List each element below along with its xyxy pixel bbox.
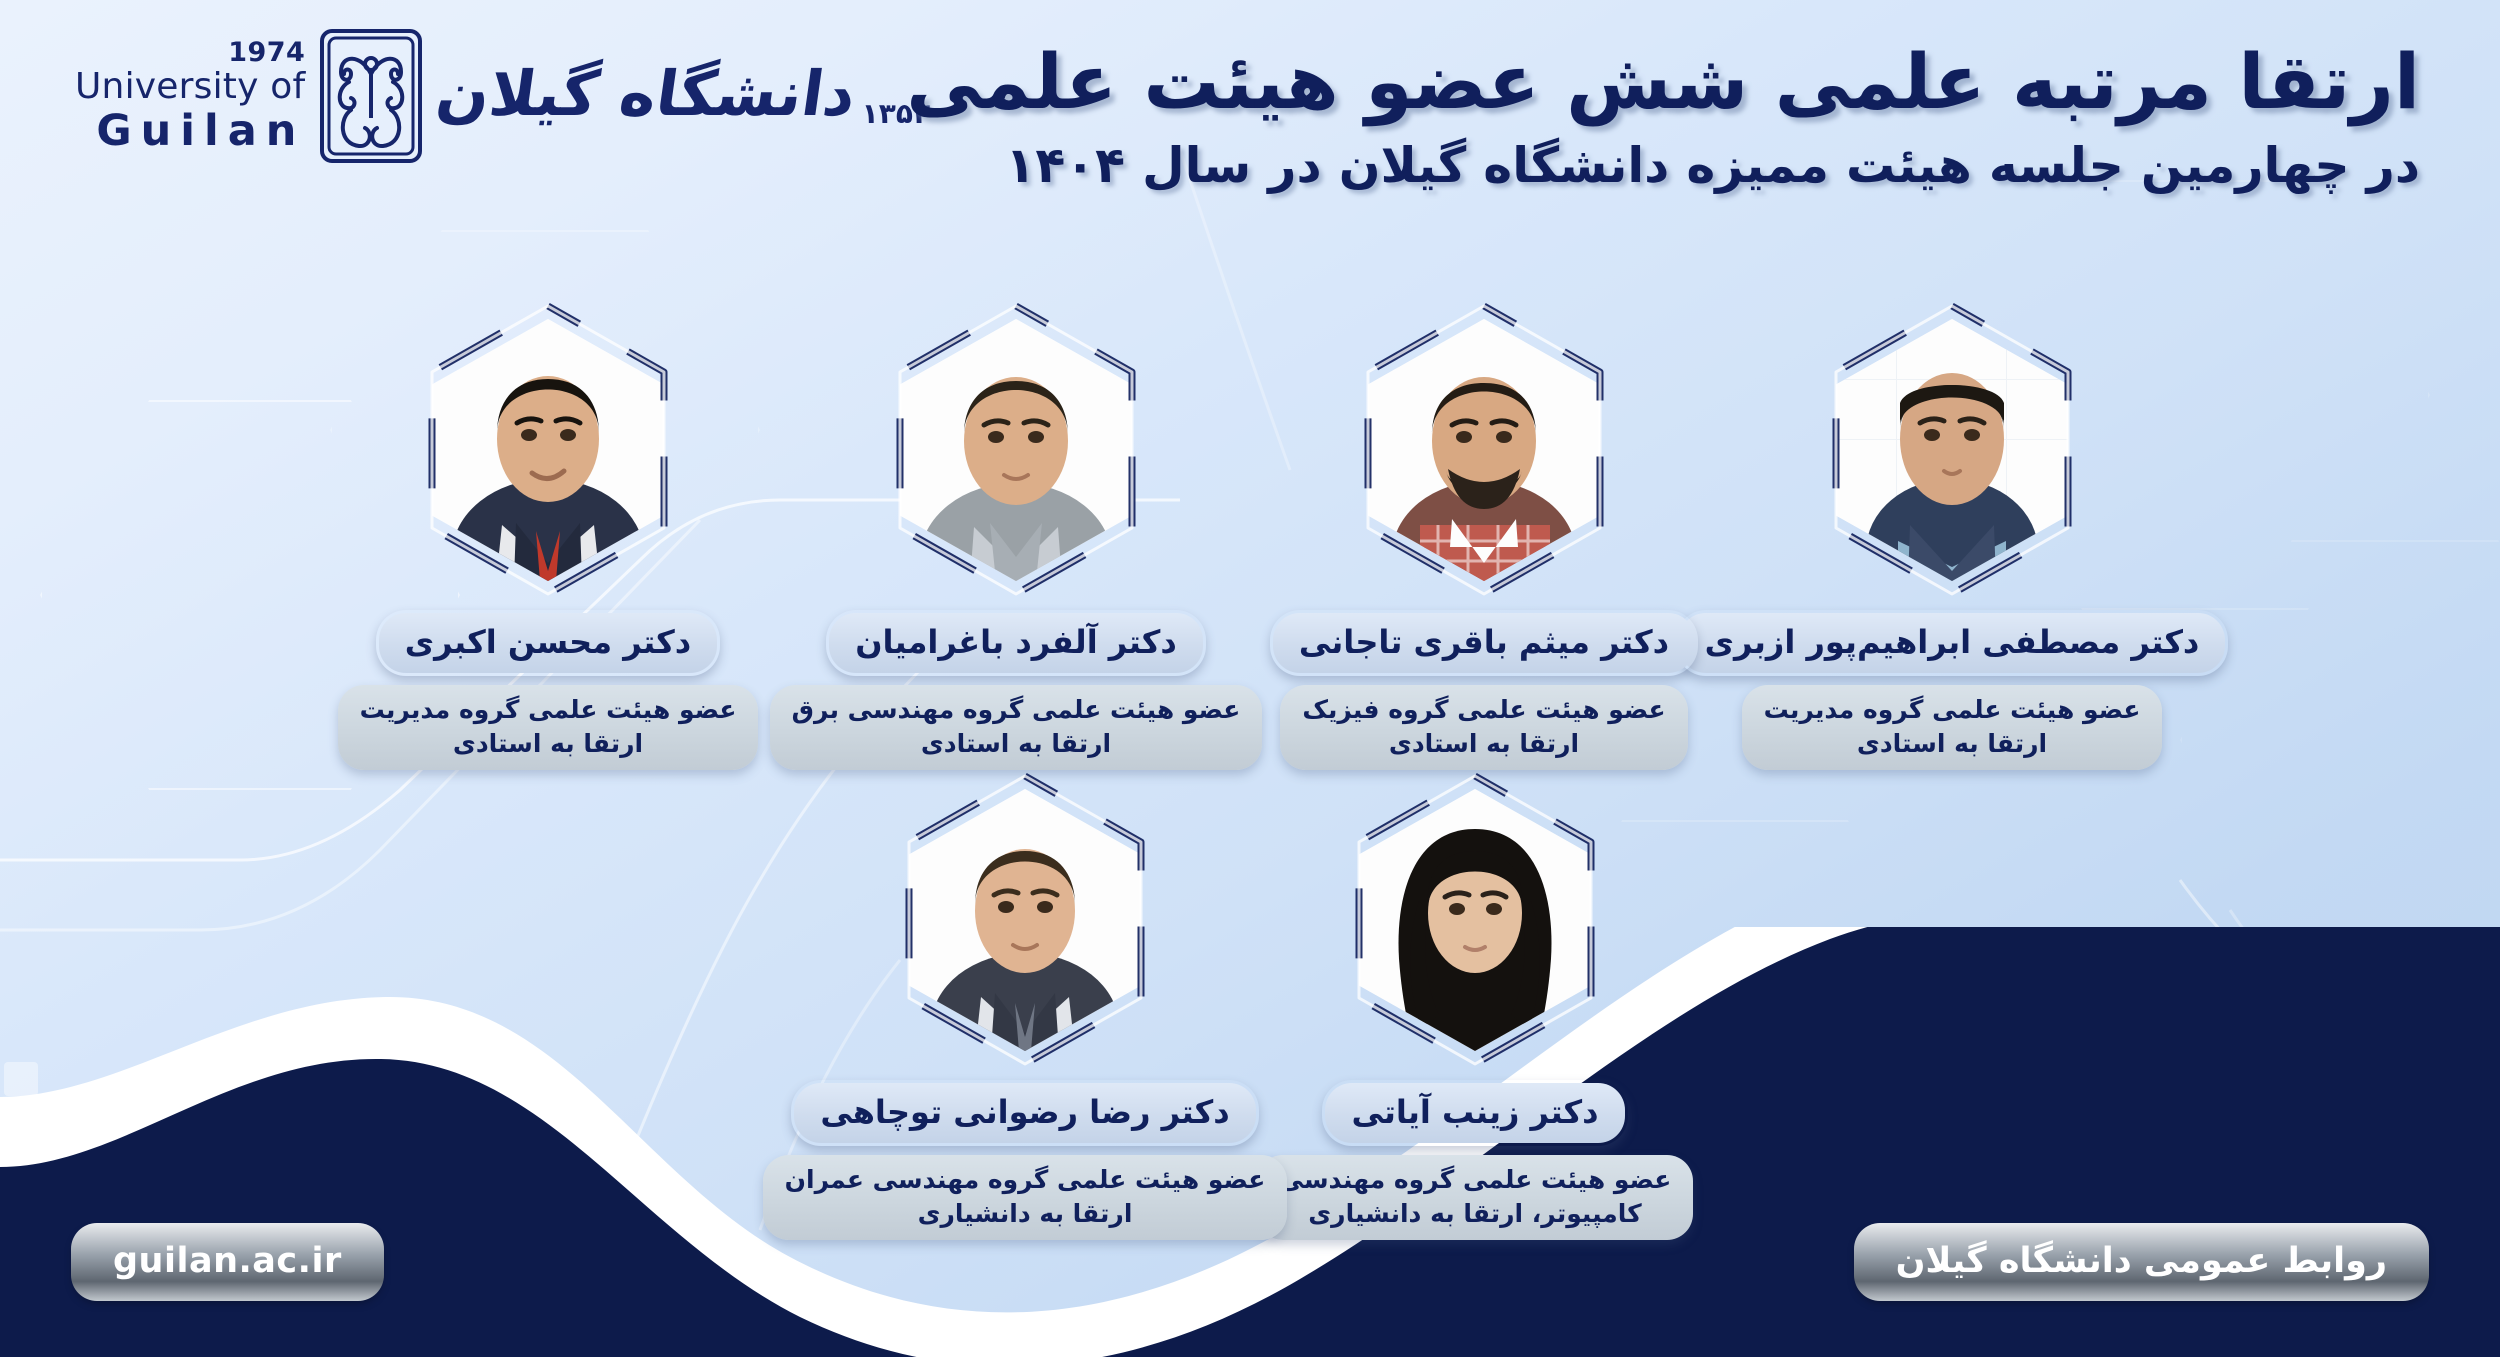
- logo-university-name-fa: دانشگاه گیلان: [433, 63, 860, 125]
- person-card[interactable]: دکتر رضا رضوانی توچاهی عضو هیئت علمی گرو…: [860, 770, 1190, 1240]
- person-role-line2: ارتقا به استادی: [792, 727, 1241, 761]
- person-name: دکتر رضا رضوانی توچاهی: [820, 1093, 1229, 1131]
- people-row-top: دکتر مصطفی ابراهیم‌پور ازبری عضو هیئت عل…: [0, 300, 2500, 770]
- person-role-plate: عضو هیئت علمی گروه فیزیک ارتقا به استادی: [1280, 685, 1687, 770]
- person-role-plate: عضو هیئت علمی گروه مدیریت ارتقا به استاد…: [1742, 685, 2163, 770]
- person-role-plate: عضو هیئت علمی گروه مدیریت ارتقا به استاد…: [338, 685, 759, 770]
- person-name: دکتر آلفرد باغرامیان: [855, 623, 1177, 661]
- portrait-photo-icon: [909, 789, 1141, 1051]
- logo-founding-year-en: 1974: [228, 39, 305, 66]
- portrait-photo-icon: [1836, 319, 2068, 581]
- logo-guilan-word: Guilan: [96, 110, 305, 153]
- person-name-plate: دکتر مصطفی ابراهیم‌پور ازبری: [1676, 610, 2229, 676]
- public-relations-label: روابط عمومی دانشگاه گیلان: [1896, 1241, 2387, 1281]
- person-photo-frame: [1341, 770, 1609, 1070]
- person-card[interactable]: دکتر آلفرد باغرامیان عضو هیئت علمی گروه …: [851, 300, 1181, 770]
- person-role-line2: ارتقا به استادی: [1302, 727, 1665, 761]
- header-block: ارتقا مرتبه علمی شش عضو هیئت علمی در چها…: [906, 38, 2420, 196]
- portrait-photo-icon: [1359, 789, 1591, 1051]
- person-role-line1: عضو هیئت علمی گروه مدیریت: [360, 693, 737, 727]
- portrait-photo-icon: [432, 319, 664, 581]
- logo-university-word: University of: [75, 69, 305, 105]
- person-photo-frame: [882, 300, 1150, 600]
- person-photo-frame: [1350, 300, 1618, 600]
- person-card[interactable]: دکتر مصطفی ابراهیم‌پور ازبری عضو هیئت عل…: [1787, 300, 2117, 770]
- person-role-line1: عضو هیئت علمی گروه مهندسی: [1279, 1163, 1672, 1197]
- person-role-plate: عضو هیئت علمی گروه مهندسی کامپیوتر، ارتق…: [1257, 1155, 1694, 1240]
- logo-persian-text: ۱۳۵۳ دانشگاه گیلان: [437, 63, 930, 130]
- person-role-line1: عضو هیئت علمی گروه مهندسی برق: [792, 693, 1241, 727]
- person-name-plate: دکتر آلفرد باغرامیان: [826, 610, 1206, 676]
- person-role-line2: ارتقا به دانشیاری: [785, 1197, 1266, 1231]
- person-name-plate: دکتر رضا رضوانی توچاهی: [791, 1080, 1258, 1146]
- person-card[interactable]: دکتر محسن اکبری عضو هیئت علمی گروه مدیری…: [383, 300, 713, 770]
- page-subtitle: در چهارمین جلسه هیئت ممیزه دانشگاه گیلان…: [906, 137, 2420, 196]
- person-card[interactable]: دکتر میثم باقری تاجانی عضو هیئت علمی گرو…: [1319, 300, 1649, 770]
- person-name: دکتر میثم باقری تاجانی: [1299, 623, 1669, 661]
- portrait-photo-icon: [900, 319, 1132, 581]
- person-name-plate: دکتر محسن اکبری: [376, 610, 720, 676]
- website-url: guilan.ac.ir: [113, 1241, 342, 1281]
- person-role-line2: ارتقا به استادی: [1764, 727, 2141, 761]
- person-photo-frame: [891, 770, 1159, 1070]
- portrait-photo-icon: [1368, 319, 1600, 581]
- person-name-plate: دکتر میثم باقری تاجانی: [1270, 610, 1698, 676]
- person-name: دکتر مصطفی ابراهیم‌پور ازبری: [1705, 623, 2200, 661]
- person-role-plate: عضو هیئت علمی گروه مهندسی برق ارتقا به ا…: [770, 685, 1263, 770]
- person-role-line2: ارتقا به استادی: [360, 727, 737, 761]
- website-pill[interactable]: guilan.ac.ir: [75, 1227, 380, 1297]
- people-row-bottom: دکتر زینب آیاتی عضو هیئت علمی گروه مهندس…: [0, 770, 2500, 1240]
- person-card[interactable]: دکتر زینب آیاتی عضو هیئت علمی گروه مهندس…: [1310, 770, 1640, 1240]
- page-title: ارتقا مرتبه علمی شش عضو هیئت علمی: [906, 38, 2420, 125]
- person-name: دکتر محسن اکبری: [405, 623, 691, 661]
- person-photo-frame: [414, 300, 682, 600]
- person-role-line1: عضو هیئت علمی گروه فیزیک: [1302, 693, 1665, 727]
- guilan-butterfly-emblem-icon: [319, 28, 423, 164]
- person-role-line1: عضو هیئت علمی گروه مهندسی عمران: [785, 1163, 1266, 1197]
- logo-english-text: 1974 University of Guilan: [75, 39, 305, 153]
- person-name-plate: دکتر زینب آیاتی: [1322, 1080, 1627, 1146]
- poster-canvas: 1974 University of Guilan ۱۳۵۳ دانشگاه گ…: [0, 0, 2500, 1357]
- university-logo: 1974 University of Guilan ۱۳۵۳ دانشگاه گ…: [75, 28, 930, 164]
- person-role-line2: کامپیوتر، ارتقا به دانشیاری: [1279, 1197, 1672, 1231]
- public-relations-pill: روابط عمومی دانشگاه گیلان: [1858, 1227, 2425, 1297]
- person-name: دکتر زینب آیاتی: [1351, 1093, 1598, 1131]
- person-role-line1: عضو هیئت علمی گروه مدیریت: [1764, 693, 2141, 727]
- person-photo-frame: [1818, 300, 2086, 600]
- person-role-plate: عضو هیئت علمی گروه مهندسی عمران ارتقا به…: [763, 1155, 1288, 1240]
